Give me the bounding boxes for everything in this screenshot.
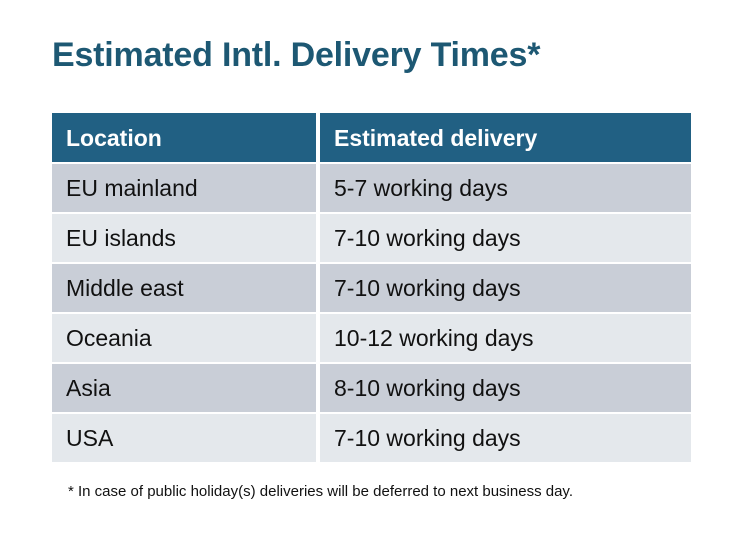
delivery-times-page: Estimated Intl. Delivery Times* Location… (0, 0, 745, 536)
cell-location: Oceania (52, 314, 316, 362)
column-header-estimated-delivery: Estimated delivery (320, 113, 691, 162)
table-row: EU islands 7-10 working days (52, 214, 691, 262)
table-row: EU mainland 5-7 working days (52, 164, 691, 212)
table-header-row: Location Estimated delivery (52, 113, 691, 162)
cell-delivery: 7-10 working days (320, 414, 691, 462)
cell-location: EU mainland (52, 164, 316, 212)
cell-location: USA (52, 414, 316, 462)
delivery-times-table: Location Estimated delivery EU mainland … (52, 113, 691, 464)
cell-delivery: 7-10 working days (320, 264, 691, 312)
table-row: Asia 8-10 working days (52, 364, 691, 412)
cell-delivery: 7-10 working days (320, 214, 691, 262)
cell-location: EU islands (52, 214, 316, 262)
column-header-location: Location (52, 113, 316, 162)
cell-delivery: 10-12 working days (320, 314, 691, 362)
cell-delivery: 8-10 working days (320, 364, 691, 412)
page-title: Estimated Intl. Delivery Times* (52, 33, 540, 77)
table-row: Middle east 7-10 working days (52, 264, 691, 312)
cell-delivery: 5-7 working days (320, 164, 691, 212)
table-row: USA 7-10 working days (52, 414, 691, 462)
table-row: Oceania 10-12 working days (52, 314, 691, 362)
cell-location: Middle east (52, 264, 316, 312)
cell-location: Asia (52, 364, 316, 412)
footnote-text: * In case of public holiday(s) deliverie… (68, 481, 573, 503)
